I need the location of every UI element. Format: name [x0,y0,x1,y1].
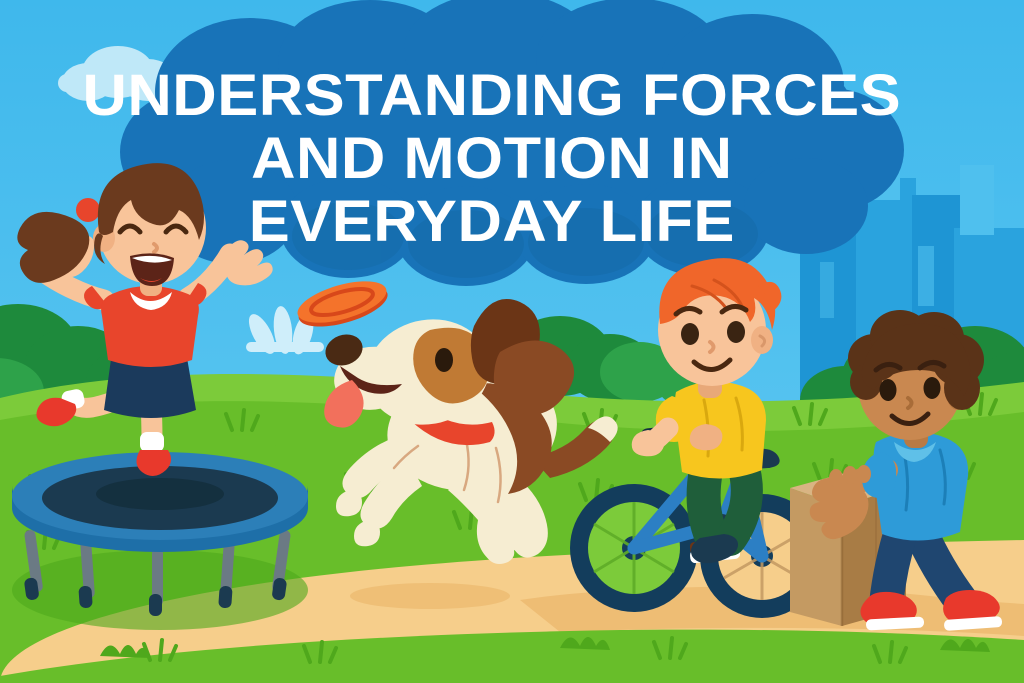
title-line-1: UNDERSTANDING FORCES [82,63,901,128]
girl-hair-tie [76,198,100,222]
boy-push-eye-left [880,379,897,401]
illustration-canvas: UNDERSTANDING FORCES AND MOTION IN EVERY… [0,0,1024,683]
boy-push-eye-right [924,377,941,399]
boy-bike-eye-left [681,323,699,345]
title-line-2: AND MOTION IN [251,126,733,191]
poster-root: UNDERSTANDING FORCES AND MOTION IN EVERY… [0,0,1024,683]
title-line-3: EVERYDAY LIFE [249,189,735,254]
path-shadow-left [350,583,510,609]
girl-sock-right [140,432,164,452]
girl-shirt [101,286,199,367]
trampoline-mat-center [96,478,224,510]
dog-eye [435,348,453,372]
boy-bike-eye-right [727,321,745,343]
